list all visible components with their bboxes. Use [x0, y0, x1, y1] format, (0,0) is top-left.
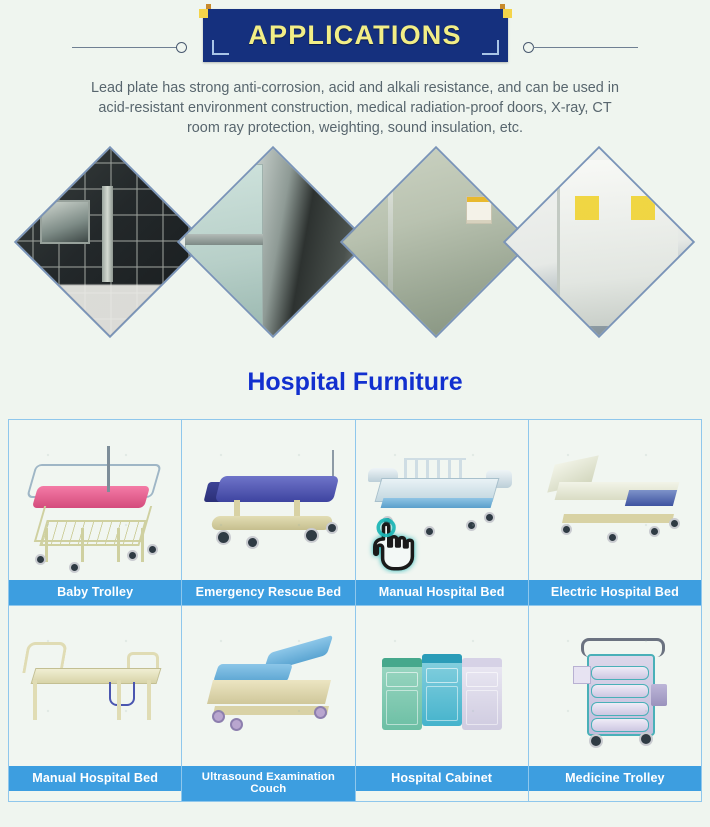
page-title: Hospital Furniture: [0, 368, 710, 397]
applications-banner: APPLICATIONS: [203, 9, 508, 62]
product-grid: Baby Trolley Emergency Rescue Bed: [8, 419, 702, 802]
banner-square-large-right: [503, 9, 512, 18]
product-card-emergency-rescue-bed[interactable]: Emergency Rescue Bed: [182, 420, 355, 606]
radiation-proof-double-door-white-photo: [503, 146, 695, 338]
banner-square-large-left: [199, 9, 208, 18]
product-label: Baby Trolley: [9, 580, 181, 605]
product-card-ultrasound-examination-couch[interactable]: Ultrasound Examination Couch: [182, 606, 355, 802]
product-label: Ultrasound Examination Couch: [182, 766, 354, 801]
manual-hospital-bed-photo: [356, 420, 528, 580]
header-rule-left: [72, 41, 187, 53]
banner-square-small-left: [206, 4, 211, 9]
product-label: Medicine Trolley: [529, 766, 701, 791]
banner-corner-squares-top-right: [494, 4, 512, 20]
product-label: Hospital Cabinet: [356, 766, 528, 791]
electric-hospital-bed-photo: [529, 420, 701, 580]
banner-bracket-bottom-right-icon: [482, 40, 499, 55]
banner-bracket-bottom-left-icon: [212, 40, 229, 55]
product-card-baby-trolley[interactable]: Baby Trolley: [9, 420, 182, 606]
banner-square-small-right: [500, 4, 505, 9]
banner-title: APPLICATIONS: [248, 20, 461, 51]
product-label: Manual Hospital Bed: [9, 766, 181, 791]
header-rule-left-circle: [176, 42, 187, 53]
hand-pointer-cursor-icon: [366, 518, 422, 574]
baby-trolley-photo: [9, 420, 181, 580]
product-card-electric-hospital-bed[interactable]: Electric Hospital Bed: [529, 420, 702, 606]
product-card-manual-hospital-bed[interactable]: Manual Hospital Bed: [356, 420, 529, 606]
product-card-medicine-trolley[interactable]: Medicine Trolley: [529, 606, 702, 802]
header-rule-left-line: [72, 47, 177, 48]
manual-hospital-bed-plain-photo: [9, 606, 181, 766]
product-label: Electric Hospital Bed: [529, 580, 701, 605]
product-label: Emergency Rescue Bed: [182, 580, 354, 605]
product-card-manual-hospital-bed-plain[interactable]: Manual Hospital Bed: [9, 606, 182, 802]
applications-description: Lead plate has strong anti-corrosion, ac…: [83, 78, 628, 138]
banner-corner-squares-top-left: [199, 4, 217, 20]
medicine-trolley-photo: [529, 606, 701, 766]
header-rule-right: [523, 41, 638, 53]
diamond-gallery: [0, 152, 710, 352]
ultrasound-examination-couch-photo: [182, 606, 354, 766]
product-card-hospital-cabinet[interactable]: Hospital Cabinet: [356, 606, 529, 802]
emergency-rescue-bed-photo: [182, 420, 354, 580]
header-rule-right-line: [533, 47, 638, 48]
diamond-image-double-door-white: [503, 146, 695, 338]
product-label: Manual Hospital Bed: [356, 580, 528, 605]
applications-header: APPLICATIONS: [0, 0, 710, 70]
hospital-cabinet-photo: [356, 606, 528, 766]
